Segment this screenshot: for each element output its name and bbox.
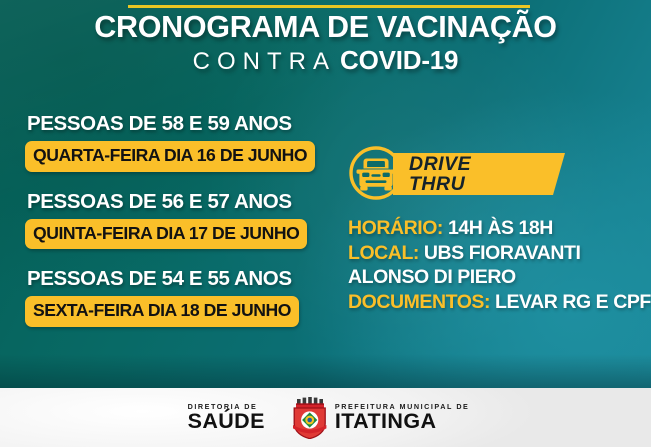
detail-documentos: DOCUMENTOS: LEVAR RG E CPF (348, 290, 643, 315)
title-contra-text: CONTRA (193, 48, 336, 75)
drive-thru-logo: DRIVE THRU (348, 145, 638, 201)
title-top-rule (128, 5, 530, 8)
title-covid-text: COVID-19 (340, 45, 458, 75)
schedule-group: PESSOAS DE 54 E 55 ANOS SEXTA-FEIRA DIA … (25, 268, 325, 327)
schedule-group: PESSOAS DE 56 E 57 ANOS QUINTA-FEIRA DIA… (25, 191, 325, 250)
schedule-audience: PESSOAS DE 58 E 59 ANOS (27, 113, 325, 136)
footer-logos: DIRETORIA DE SAÚDE (188, 397, 470, 439)
drive-thru-line1: DRIVE (409, 155, 471, 174)
itatinga-coat-of-arms-icon (291, 397, 327, 439)
schedule-audience: PESSOAS DE 56 E 57 ANOS (27, 191, 325, 214)
background-bottom-shade (0, 354, 651, 388)
schedule-audience: PESSOAS DE 54 E 55 ANOS (27, 268, 325, 291)
page-title: CRONOGRAMA DE VACINAÇÃO CONTRACOVID-19 (0, 11, 651, 75)
prefeitura-logo: PREFEITURA MUNICIPAL DE ITATINGA (291, 397, 470, 439)
title-line-secondary: CONTRACOVID-19 (0, 46, 651, 75)
drive-thru-line2: THRU (409, 175, 471, 194)
detail-documentos-value: LEVAR RG E CPF (495, 291, 651, 313)
schedule-date-badge: SEXTA-FEIRA DIA 18 DE JUNHO (25, 296, 299, 327)
title-line-primary: CRONOGRAMA DE VACINAÇÃO (0, 11, 651, 44)
prefeitura-text: PREFEITURA MUNICIPAL DE ITATINGA (335, 403, 470, 433)
saude-name: SAÚDE (188, 411, 265, 433)
detail-local-value-2: ALONSO DI PIERO (348, 266, 516, 288)
schedule-group: PESSOAS DE 58 E 59 ANOS QUARTA-FEIRA DIA… (25, 113, 325, 172)
detail-local-label: LOCAL: (348, 242, 419, 264)
detail-local: LOCAL: UBS FIORAVANTI (348, 241, 643, 266)
detail-horario: HORÁRIO: 14H ÀS 18H (348, 216, 643, 241)
prefeitura-name: ITATINGA (335, 411, 470, 433)
footer-bar: DIRETORIA DE SAÚDE (0, 388, 651, 447)
detail-documentos-label: DOCUMENTOS: (348, 291, 490, 313)
diretoria-saude-logo: DIRETORIA DE SAÚDE (188, 403, 265, 433)
schedule-date-badge: QUARTA-FEIRA DIA 16 DE JUNHO (25, 141, 315, 172)
schedule-list: PESSOAS DE 58 E 59 ANOS QUARTA-FEIRA DIA… (25, 113, 325, 327)
detail-local-value: UBS FIORAVANTI (424, 242, 581, 264)
poster-canvas: CRONOGRAMA DE VACINAÇÃO CONTRACOVID-19 P… (0, 0, 651, 447)
schedule-date-badge: QUINTA-FEIRA DIA 17 DE JUNHO (25, 219, 307, 250)
detail-local-continued: ALONSO DI PIERO (348, 265, 643, 290)
detail-horario-label: HORÁRIO: (348, 217, 443, 239)
event-details: HORÁRIO: 14H ÀS 18H LOCAL: UBS FIORAVANT… (348, 216, 643, 314)
drive-thru-label: DRIVE THRU (409, 155, 471, 193)
detail-horario-value: 14H ÀS 18H (448, 217, 553, 239)
